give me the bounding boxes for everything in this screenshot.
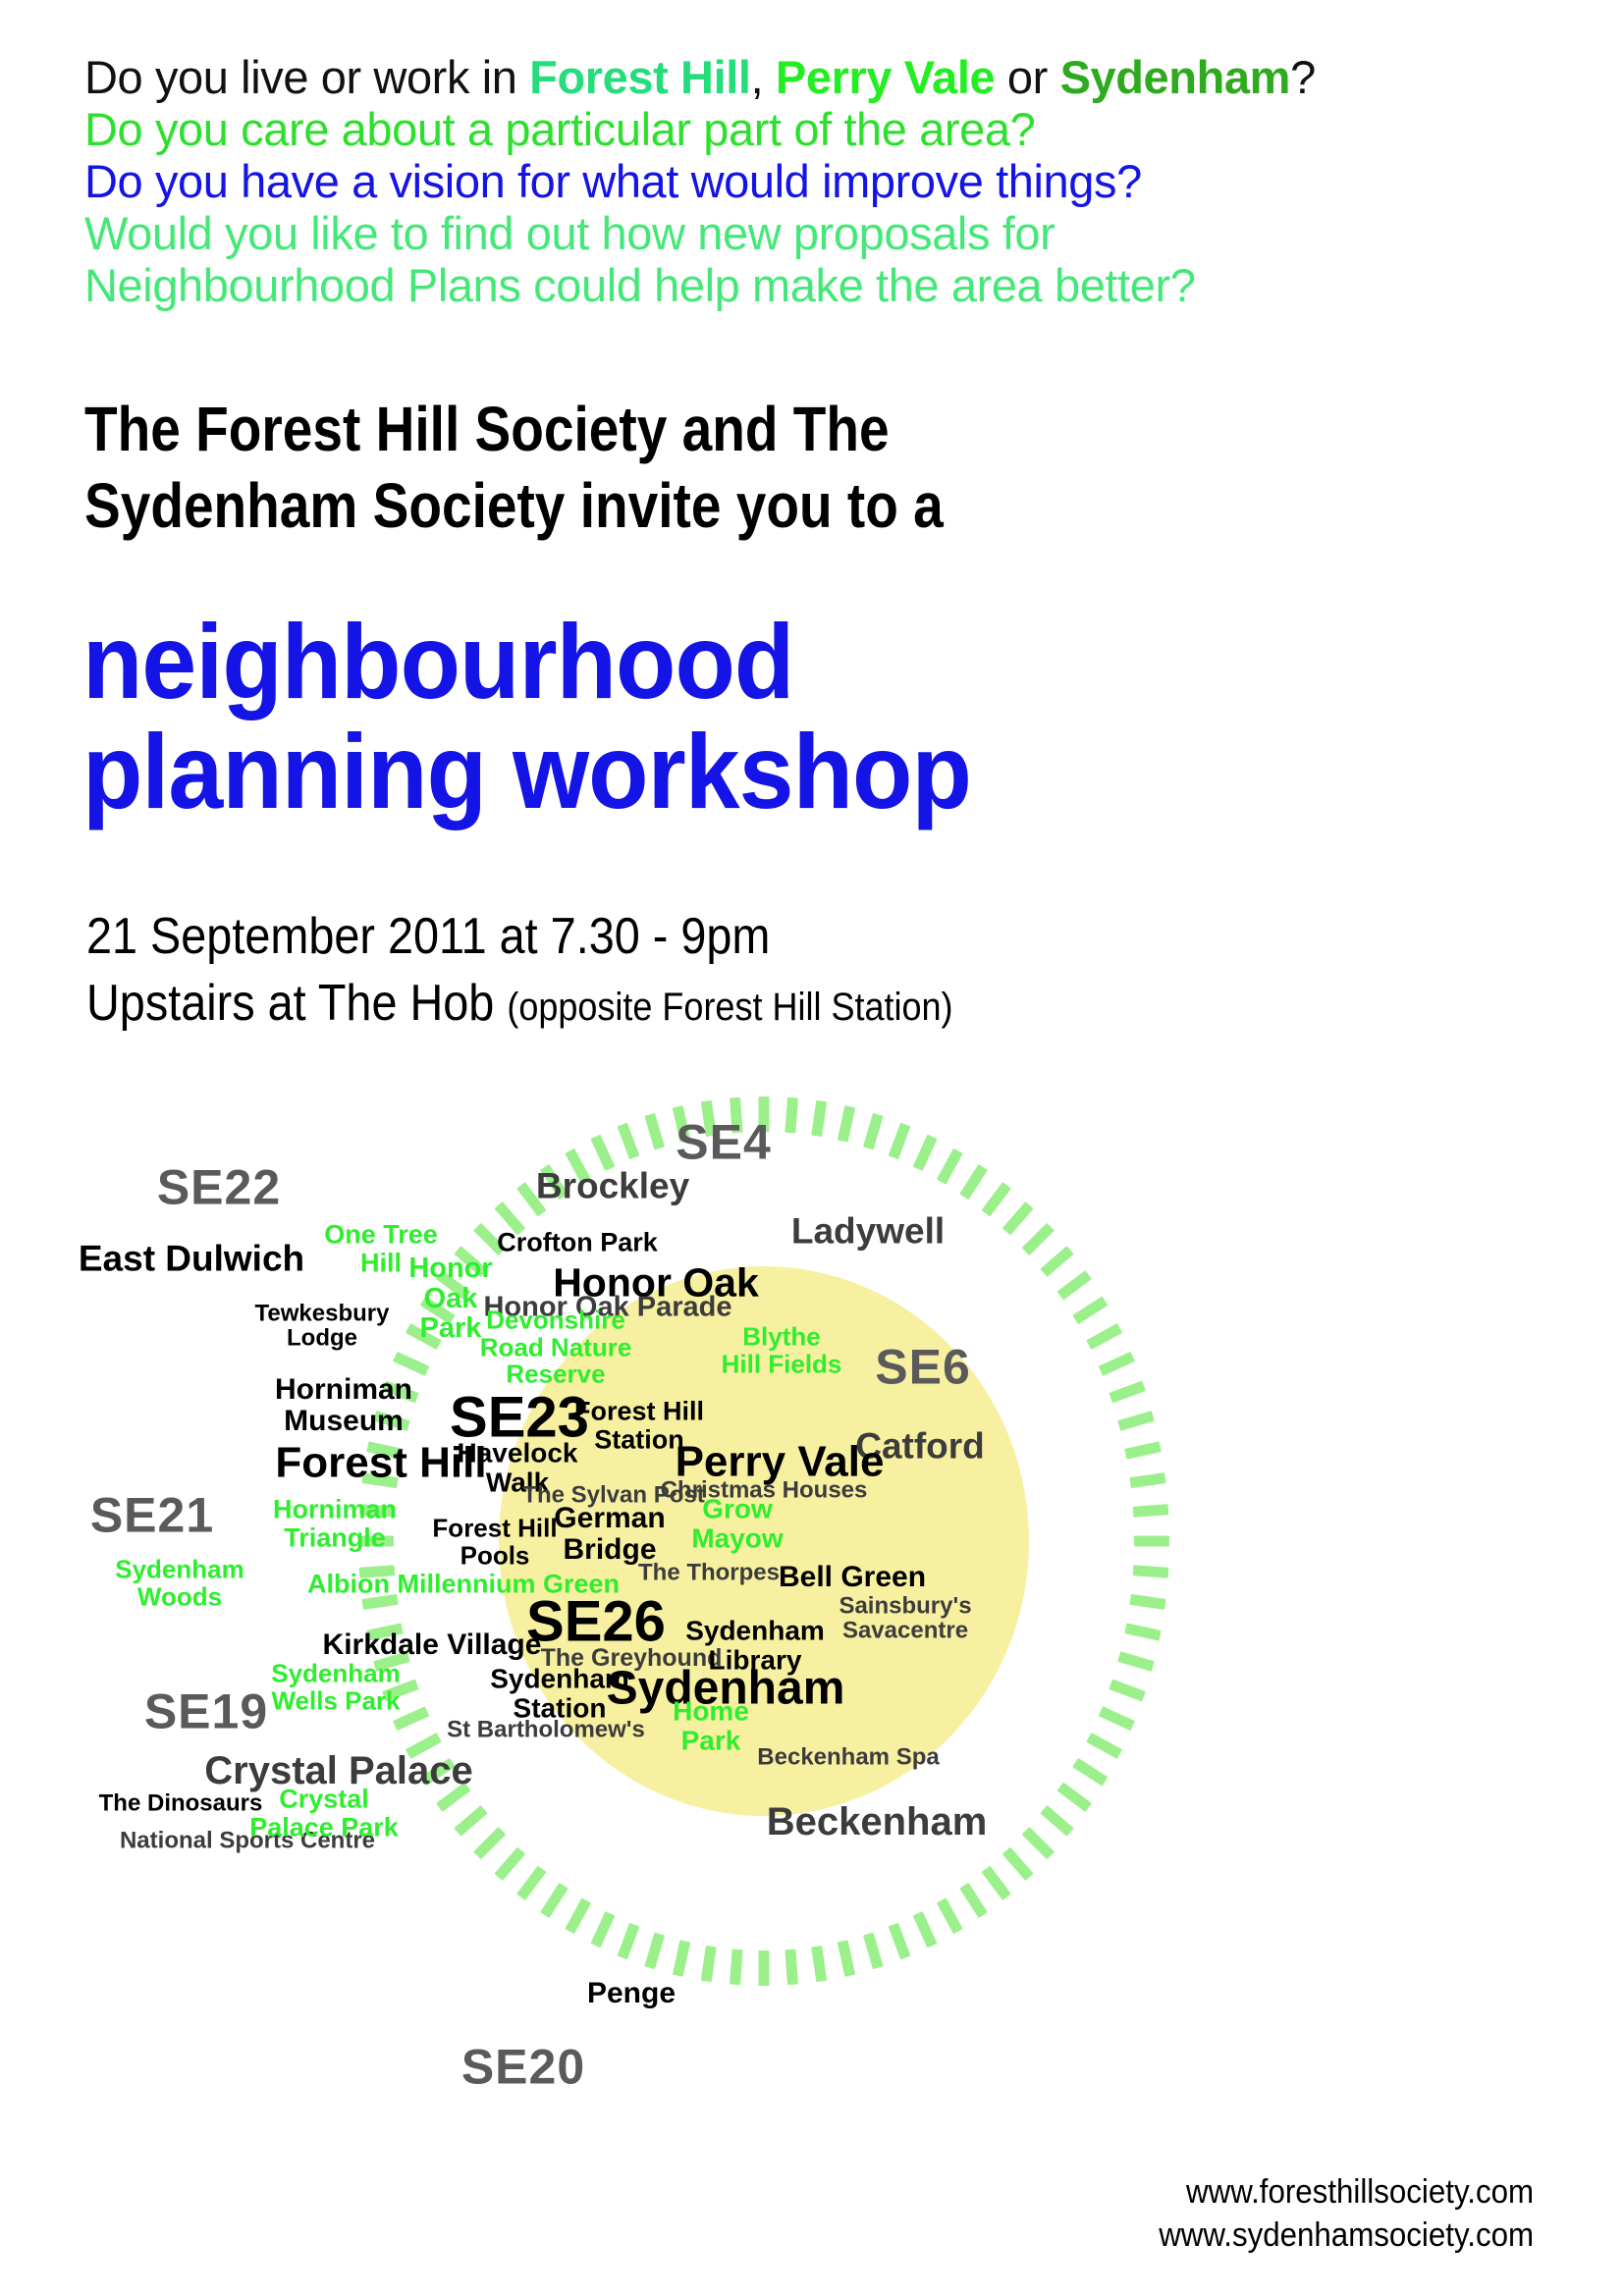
page-title: neighbourhood planning workshop	[82, 607, 1452, 827]
map-label-line: Sydenham	[115, 1556, 244, 1583]
ring-dash	[1022, 1827, 1055, 1859]
ring-dash	[590, 1911, 615, 1948]
map-label-line: SE22	[157, 1162, 281, 1214]
ring-dash	[1057, 1782, 1092, 1811]
map-label-line: The Dinosaurs	[99, 1790, 263, 1815]
map-label-line: Bell Green	[779, 1562, 926, 1593]
ring-dash	[618, 1923, 640, 1960]
map-label-se26: SE26	[526, 1591, 666, 1651]
map-label-line: Beckenham	[767, 1801, 988, 1842]
question-line-1: Do you live or work in Forest Hill, Perr…	[84, 51, 1538, 103]
map-label-tewkesbury-lodge: TewkesburyLodge	[255, 1302, 390, 1352]
map-label-line: Pools	[432, 1542, 557, 1570]
ring-dash	[863, 1933, 884, 1970]
ring-dash	[1072, 1296, 1108, 1324]
question-sep-1: ,	[751, 51, 776, 103]
map-label-sainsbury-s-savacentre: Sainsbury'sSavacentre	[839, 1594, 971, 1644]
ring-dash	[959, 1164, 988, 1200]
area-map: SE4SE22SE6SE21SE19SE20BrockleyLadywellEa…	[0, 1060, 1624, 2296]
ring-dash	[1086, 1733, 1122, 1759]
intro-questions: Do you live or work in Forest Hill, Perr…	[84, 51, 1538, 311]
ring-dash	[1022, 1223, 1055, 1255]
ring-dash	[1002, 1847, 1034, 1881]
ring-dash	[937, 1148, 963, 1185]
ring-dash	[565, 1897, 591, 1934]
map-label-kirkdale-village: Kirkdale Village	[323, 1629, 542, 1661]
map-label-line: Havelock	[458, 1438, 578, 1468]
map-label-se19: SE19	[144, 1686, 268, 1738]
ring-dash	[454, 1805, 487, 1837]
map-label-horniman-museum: HornimanMuseum	[275, 1374, 412, 1437]
map-label-crofton-park: Crofton Park	[497, 1229, 658, 1257]
ring-dash	[644, 1933, 665, 1970]
map-label-line: SE26	[526, 1591, 666, 1651]
map-label-line: Albion Millennium Green	[307, 1571, 620, 1599]
society-heading-line-1: The Forest Hill Society and The	[84, 391, 1267, 467]
ring-dash	[1099, 1706, 1135, 1731]
ring-dash	[811, 1100, 827, 1137]
ring-dash	[516, 1866, 546, 1900]
map-label-beckenham-spa: Beckenham Spa	[757, 1744, 939, 1769]
event-date: 21 September 2011 at 7.30 - 9pm	[86, 903, 1412, 970]
ring-dash	[937, 1897, 963, 1934]
ring-dash	[785, 1949, 798, 1986]
question-line-4: Would you like to find out how new propo…	[84, 207, 1538, 259]
ring-dash	[473, 1827, 506, 1859]
map-label-line: Horniman	[273, 1495, 397, 1523]
map-label-line: SE4	[676, 1117, 772, 1169]
map-label-line: Forest Hill	[275, 1441, 486, 1487]
map-label-line: Woods	[115, 1583, 244, 1611]
map-label-line: Beckenham Spa	[757, 1744, 939, 1769]
question-area-forest-hill: Forest Hill	[529, 51, 750, 103]
map-label-line: Lodge	[255, 1326, 390, 1351]
map-label-line: Palace Park	[249, 1813, 399, 1842]
map-label-penge: Penge	[587, 1978, 676, 2009]
ring-dash	[959, 1883, 988, 1918]
map-label-line: Ladywell	[791, 1211, 945, 1250]
map-label-sydenham-woods: SydenhamWoods	[115, 1556, 244, 1610]
ring-dash	[889, 1123, 911, 1160]
map-label-line: Hill Fields	[722, 1351, 842, 1378]
ring-dash	[393, 1352, 429, 1376]
event-venue-row: Upstairs at The Hob (opposite Forest Hil…	[86, 970, 1412, 1041]
map-label-line: Tewkesbury	[255, 1302, 390, 1326]
map-label-line: Crystal	[249, 1785, 399, 1813]
question-area-perry-vale: Perry Vale	[776, 51, 995, 103]
map-label-line: Sydenham	[685, 1616, 825, 1645]
ring-dash	[1057, 1270, 1092, 1300]
footer-links: www.foresthillsociety.com www.sydenhamso…	[1159, 2170, 1534, 2257]
map-label-line: Triangle	[273, 1523, 397, 1552]
ring-dash	[811, 1946, 827, 1982]
map-label-crystal-palace-park: CrystalPalace Park	[249, 1785, 399, 1841]
map-label-forest-hill-pools: Forest HillPools	[432, 1515, 557, 1569]
ring-dash	[1109, 1680, 1146, 1702]
map-label-the-dinosaurs: The Dinosaurs	[99, 1790, 263, 1815]
map-label-line: Horniman	[275, 1374, 412, 1406]
map-label-blythe-hill-fields: BlytheHill Fields	[722, 1323, 842, 1377]
ring-dash	[889, 1923, 911, 1960]
map-label-line: Sydenham	[271, 1660, 401, 1687]
ring-dash	[759, 1950, 770, 1986]
map-label-sydenham-wells-park: SydenhamWells Park	[271, 1660, 401, 1714]
map-label-line: Mayow	[691, 1523, 783, 1553]
map-label-the-thorpes: The Thorpes	[638, 1560, 780, 1584]
map-label-home-park: HomePark	[673, 1696, 749, 1754]
map-label-line: SE20	[461, 2042, 585, 2094]
map-label-line: SE19	[144, 1686, 268, 1738]
map-label-line: Penge	[587, 1978, 676, 2009]
map-label-beckenham: Beckenham	[767, 1801, 988, 1842]
map-label-devonshire-road-nature-reserve: DevonshireRoad NatureReserve	[480, 1308, 632, 1389]
society-heading: The Forest Hill Society and The Sydenham…	[84, 391, 1267, 544]
page-title-line-1: neighbourhood	[82, 607, 1452, 717]
map-label-brockley: Brockley	[536, 1166, 689, 1204]
ring-dash	[838, 1940, 855, 1977]
society-heading-line-2: Sydenham Society invite you to a	[84, 467, 1267, 544]
map-label-line: Blythe	[722, 1323, 842, 1351]
question-line-1-end: ?	[1290, 51, 1316, 103]
map-label-st-bartholomew-s: St Bartholomew's	[447, 1717, 645, 1741]
ring-dash	[1134, 1536, 1169, 1547]
ring-dash	[618, 1123, 640, 1160]
map-label-line: Museum	[275, 1406, 412, 1437]
footer-url-sydenham-society[interactable]: www.sydenhamsociety.com	[1159, 2214, 1534, 2257]
footer-url-forest-hill-society[interactable]: www.foresthillsociety.com	[1159, 2170, 1534, 2214]
map-label-line: Honor	[408, 1254, 492, 1284]
map-label-german-bridge: GermanBridge	[554, 1503, 665, 1566]
ring-dash	[1124, 1441, 1162, 1459]
ring-dash	[1002, 1201, 1034, 1235]
question-line-3: Do you have a vision for what would impr…	[84, 155, 1538, 207]
ring-dash	[1086, 1323, 1122, 1350]
ring-dash	[838, 1105, 855, 1143]
map-label-line: Home	[673, 1696, 749, 1726]
ring-dash	[1109, 1381, 1146, 1404]
map-label-bell-green: Bell Green	[779, 1562, 926, 1593]
map-label-se20: SE20	[461, 2042, 585, 2094]
event-details: 21 September 2011 at 7.30 - 9pm Upstairs…	[86, 903, 1412, 1041]
question-line-5: Neighbourhood Plans could help make the …	[84, 259, 1538, 311]
map-label-line: Forest Hill	[574, 1397, 704, 1425]
ring-dash	[1124, 1623, 1162, 1640]
ring-dash	[673, 1940, 690, 1977]
map-label-east-dulwich: East Dulwich	[79, 1239, 304, 1277]
ring-dash	[913, 1135, 938, 1171]
map-label-line: Wells Park	[271, 1687, 401, 1715]
ring-dash	[494, 1847, 525, 1881]
ring-dash	[1072, 1758, 1108, 1787]
poster-canvas: Do you live or work in Forest Hill, Perr…	[0, 0, 1624, 2296]
map-label-se4: SE4	[676, 1117, 772, 1169]
ring-dash	[701, 1946, 717, 1982]
map-label-line: East Dulwich	[79, 1239, 304, 1277]
map-label-line: Brockley	[536, 1166, 689, 1204]
question-area-sydenham: Sydenham	[1060, 51, 1291, 103]
ring-dash	[644, 1113, 665, 1150]
map-label-line: Grow	[691, 1494, 783, 1523]
map-label-line: Savacentre	[839, 1619, 971, 1643]
map-label-line: Devonshire	[480, 1308, 632, 1335]
ring-dash	[1040, 1805, 1073, 1837]
event-venue: Upstairs at The Hob	[86, 975, 507, 1032]
map-label-albion-millennium-green: Albion Millennium Green	[307, 1571, 620, 1599]
map-label-se21: SE21	[90, 1490, 214, 1542]
event-venue-note: (opposite Forest Hill Station)	[507, 986, 952, 1029]
map-label-ladywell: Ladywell	[791, 1211, 945, 1250]
ring-dash	[540, 1883, 568, 1918]
ring-dash	[1117, 1411, 1155, 1431]
ring-dash	[982, 1866, 1011, 1900]
map-label-grow-mayow: GrowMayow	[691, 1494, 783, 1552]
question-line-2: Do you care about a particular part of t…	[84, 103, 1538, 155]
map-label-se6: SE6	[875, 1342, 971, 1394]
ring-dash	[1040, 1246, 1073, 1277]
page-title-line-2: planning workshop	[82, 717, 1452, 827]
ring-dash	[913, 1911, 938, 1948]
question-sep-2: or	[995, 51, 1059, 103]
map-label-horniman-triangle: HornimanTriangle	[273, 1495, 397, 1551]
map-label-line: Road Nature	[480, 1334, 632, 1362]
map-label-line: SE21	[90, 1490, 214, 1542]
ring-dash	[1129, 1472, 1165, 1488]
map-label-line: Park	[673, 1726, 749, 1755]
map-label-line: St Bartholomew's	[447, 1717, 645, 1741]
ring-dash	[1133, 1565, 1169, 1578]
map-label-line: Crofton Park	[497, 1229, 658, 1257]
map-label-se22: SE22	[157, 1162, 281, 1214]
ring-dash	[785, 1097, 798, 1134]
map-label-forest-hill: Forest Hill	[275, 1441, 486, 1487]
ring-dash	[730, 1949, 743, 1986]
question-line-1-prefix: Do you live or work in	[84, 51, 529, 103]
ring-dash	[1117, 1651, 1155, 1672]
ring-dash	[1129, 1594, 1165, 1610]
ring-dash	[1099, 1352, 1135, 1376]
map-label-line: German	[554, 1503, 665, 1534]
ring-dash	[982, 1182, 1011, 1216]
map-label-line: Kirkdale Village	[323, 1629, 542, 1661]
map-label-line: Forest Hill	[432, 1515, 557, 1542]
map-label-line: SE6	[875, 1342, 971, 1394]
map-label-line: One Tree	[324, 1220, 438, 1249]
map-label-line: Reserve	[480, 1362, 632, 1389]
map-label-line: Sainsbury's	[839, 1594, 971, 1619]
map-label-line: The Thorpes	[638, 1560, 780, 1584]
ring-dash	[1133, 1504, 1169, 1518]
ring-dash	[863, 1113, 884, 1150]
